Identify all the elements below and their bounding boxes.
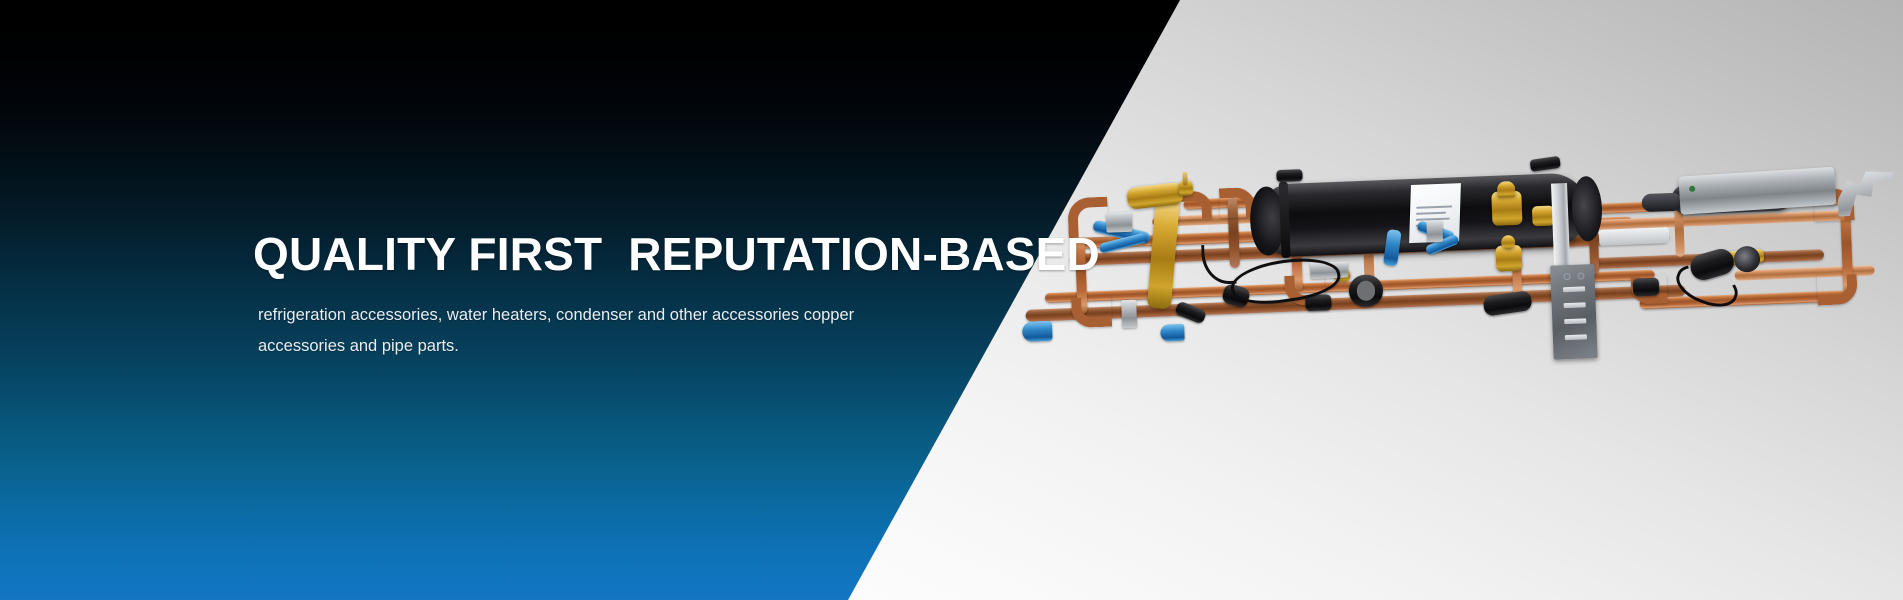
copper-bend — [1817, 274, 1858, 306]
hero-banner: QUALITY FIRST REPUTATION-BASED refrigera… — [0, 0, 1903, 600]
fin-hole — [1577, 272, 1584, 279]
fin-slot — [1565, 334, 1587, 340]
plate-heat-exchanger — [1678, 167, 1836, 215]
small-cylinder — [1641, 193, 1682, 213]
fin-hole — [1563, 273, 1570, 280]
copper-tube-run — [1592, 210, 1842, 230]
product-image — [1031, 149, 1900, 432]
brass-valve-stem — [1182, 172, 1188, 186]
indicator-dot — [1689, 186, 1695, 192]
clamp — [1276, 169, 1302, 182]
hero-headline: QUALITY FIRST REPUTATION-BASED — [253, 230, 893, 278]
grommet-core — [1357, 280, 1376, 301]
fin-slot — [1564, 318, 1586, 324]
pressure-switch — [1734, 246, 1761, 273]
hanger-bracket — [1837, 170, 1895, 216]
blue-ball-valve — [1022, 321, 1053, 342]
clamp — [1633, 278, 1660, 297]
hero-copy: QUALITY FIRST REPUTATION-BASED refrigera… — [253, 230, 893, 362]
fin-slot — [1563, 286, 1585, 292]
mounting-bracket — [1106, 212, 1133, 233]
grey-finned-plate — [1550, 264, 1598, 360]
fin-slot — [1564, 302, 1586, 308]
sticker-text-line — [1416, 212, 1446, 215]
sensor-wire-harness — [1201, 244, 1237, 285]
copper-bend — [1071, 297, 1112, 329]
mounting-bracket — [1121, 300, 1137, 329]
brass-valve-cap — [1497, 181, 1516, 198]
mounting-bracket — [1426, 220, 1443, 243]
steel-block — [1599, 227, 1670, 246]
blue-ball-valve — [1160, 324, 1185, 342]
sticker-text-line — [1416, 205, 1452, 208]
hero-subtitle: refrigeration accessories, water heaters… — [258, 300, 878, 362]
